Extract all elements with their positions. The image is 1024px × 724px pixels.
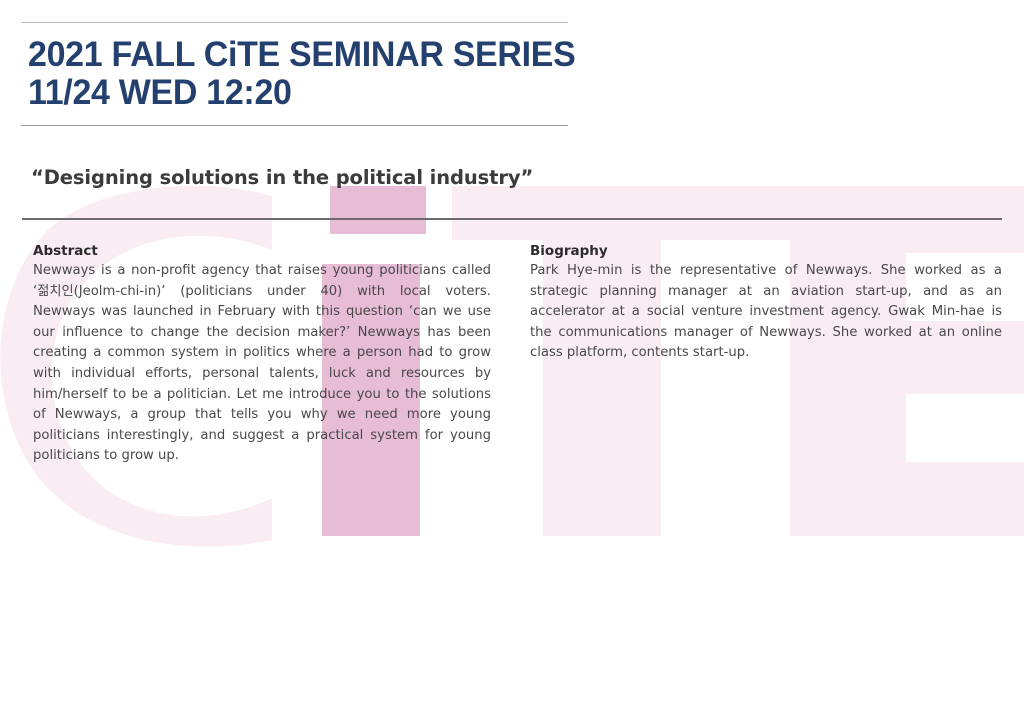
page-title: 2021 FALL CiTE SEMINAR SERIES 11/24 WED … — [28, 36, 629, 112]
biography-heading: Biography — [530, 242, 1002, 260]
rule-above-sections — [22, 218, 1002, 220]
rule-above-title — [21, 22, 568, 23]
abstract-body: Newways is a non-profit agency that rais… — [33, 261, 491, 467]
rule-below-title — [21, 125, 568, 126]
talk-title: “Designing solutions in the political in… — [31, 166, 533, 189]
abstract-heading: Abstract — [33, 242, 491, 260]
abstract-column: Abstract Newways is a non-profit agency … — [33, 242, 491, 467]
poster-content: 2021 FALL CiTE SEMINAR SERIES 11/24 WED … — [0, 0, 1024, 724]
biography-column: Biography Park Hye-min is the representa… — [530, 242, 1002, 364]
biography-body: Park Hye-min is the representative of Ne… — [530, 261, 1002, 364]
seminar-poster: 2021 FALL CiTE SEMINAR SERIES 11/24 WED … — [0, 0, 1024, 724]
